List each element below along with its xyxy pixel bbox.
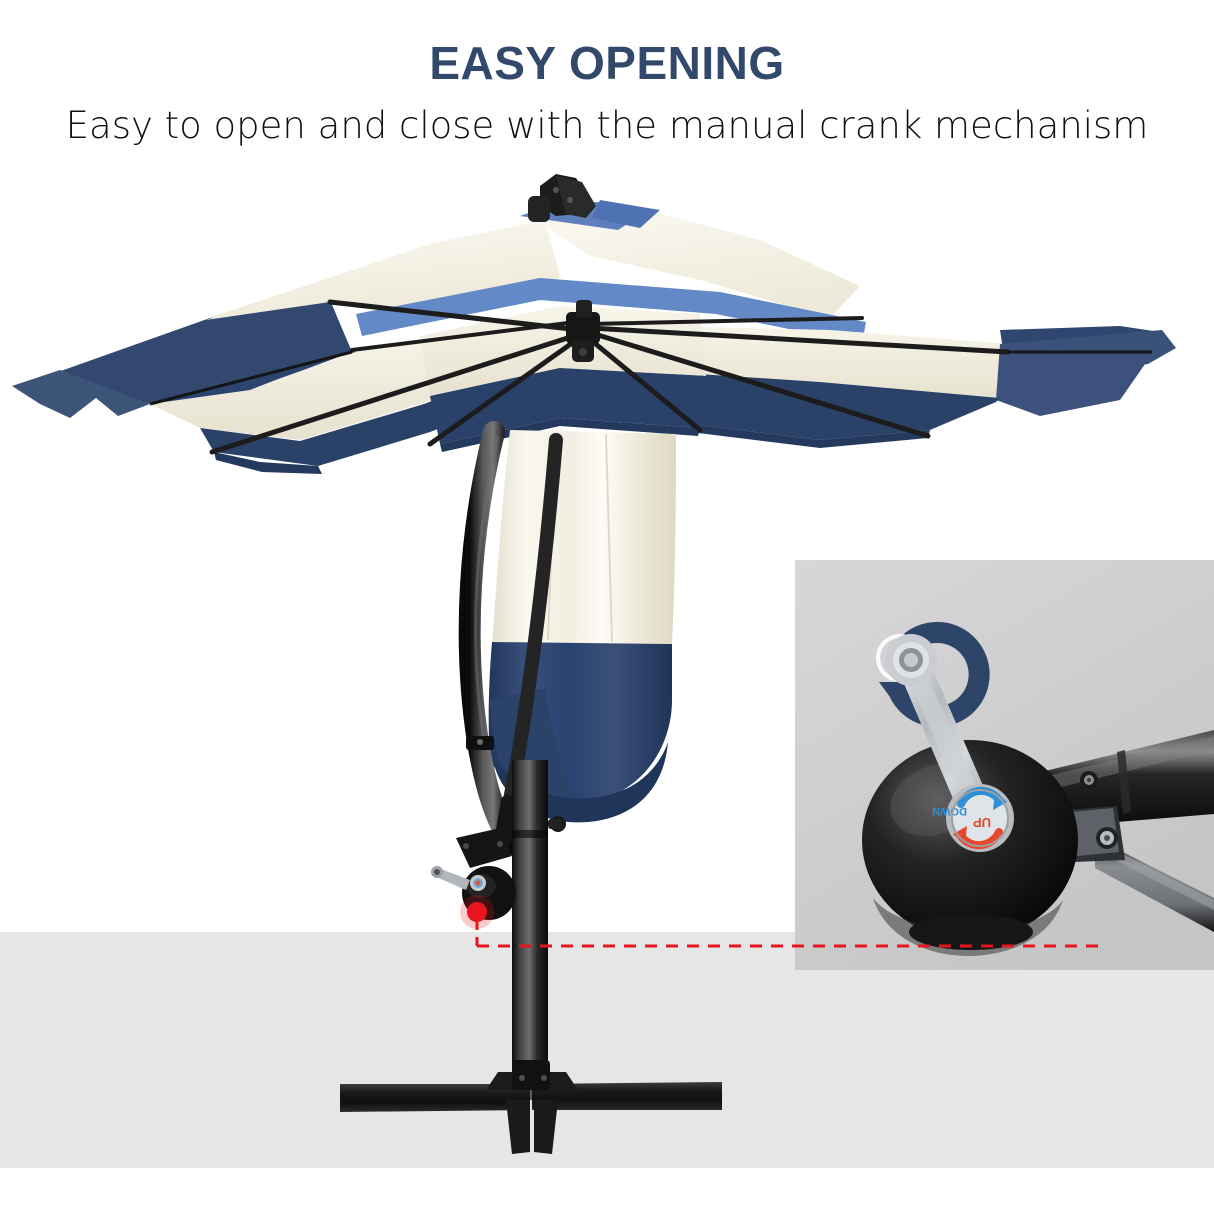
- page-subtitle: Easy to open and close with the manual c…: [0, 104, 1214, 147]
- page-title: EASY OPENING: [0, 36, 1214, 90]
- umbrella-canopy: [12, 174, 1176, 474]
- canopy-top-bracket: [528, 174, 596, 222]
- canopy-wing-right: [996, 344, 1152, 416]
- draped-fabric-upper: [492, 430, 676, 644]
- product-feature-image: UP DOWN EASY OPENING Easy to open and cl…: [0, 0, 1214, 1214]
- sticker-up-label: UP: [973, 815, 991, 830]
- umbrella-base: [340, 1060, 722, 1154]
- crank-mechanism: [431, 828, 516, 920]
- crank-mechanism-inset: UP DOWN: [795, 560, 1214, 970]
- sticker-down-label: DOWN: [932, 805, 967, 817]
